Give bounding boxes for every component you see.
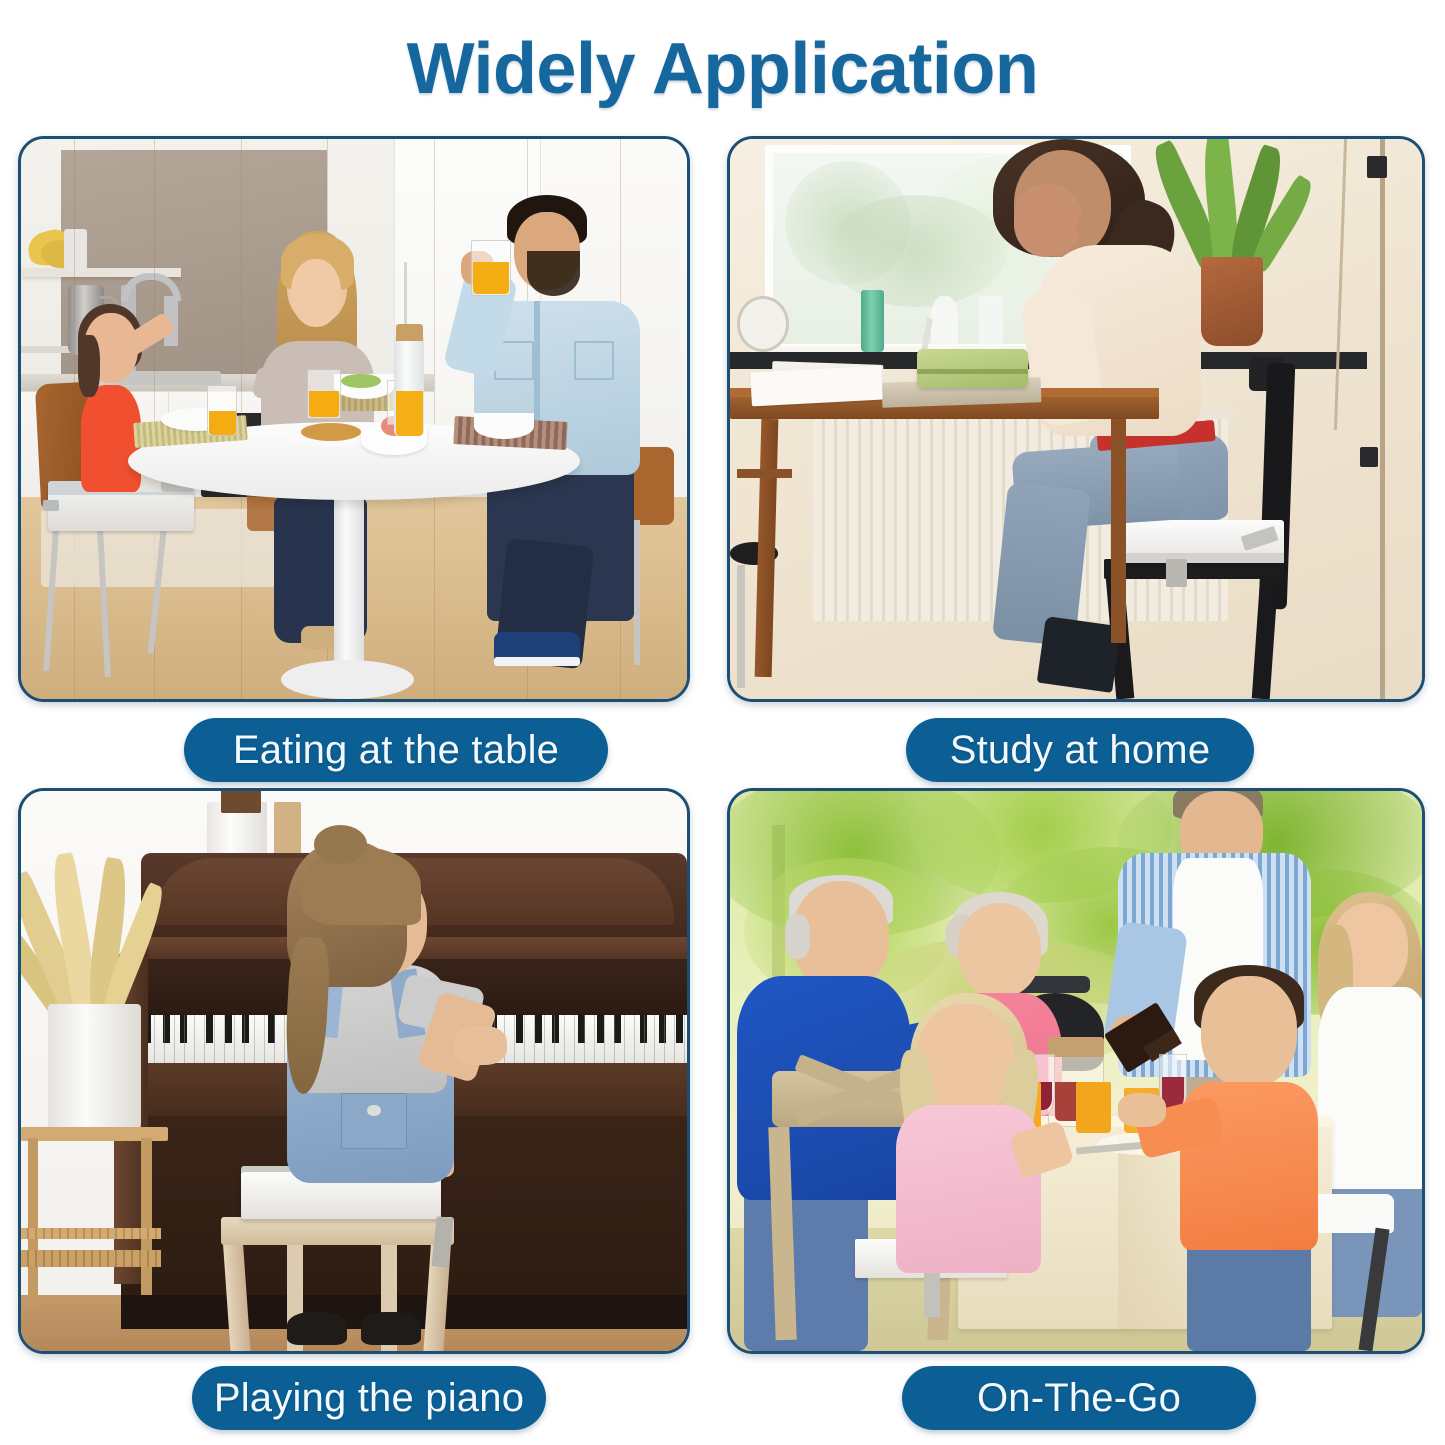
page-title: Widely Application	[0, 28, 1445, 110]
caption-playing-the-piano: Playing the piano	[192, 1366, 546, 1430]
caption-study-at-home: Study at home	[906, 718, 1254, 782]
image-panel-playing-the-piano	[18, 788, 690, 1354]
caption-on-the-go: On-The-Go	[902, 1366, 1256, 1430]
person-woman	[1318, 987, 1422, 1189]
image-panel-eating-at-the-table	[18, 136, 690, 702]
image-panel-study-at-home	[727, 136, 1425, 702]
potted-plant	[1201, 257, 1263, 347]
infographic-page: Widely Application	[0, 0, 1445, 1445]
image-panel-on-the-go	[727, 788, 1425, 1354]
scene-on-the-go	[730, 791, 1422, 1351]
caption-eating-at-the-table: Eating at the table	[184, 718, 608, 782]
scene-study-at-home	[730, 139, 1422, 699]
person-girl	[896, 1105, 1041, 1273]
clock	[737, 296, 789, 352]
wooden-stool	[221, 1217, 454, 1245]
vase-with-dried-wheat	[48, 1004, 141, 1138]
person-girl	[81, 385, 141, 491]
scene-eating-at-the-table	[21, 139, 687, 699]
scene-playing-the-piano	[21, 791, 687, 1351]
